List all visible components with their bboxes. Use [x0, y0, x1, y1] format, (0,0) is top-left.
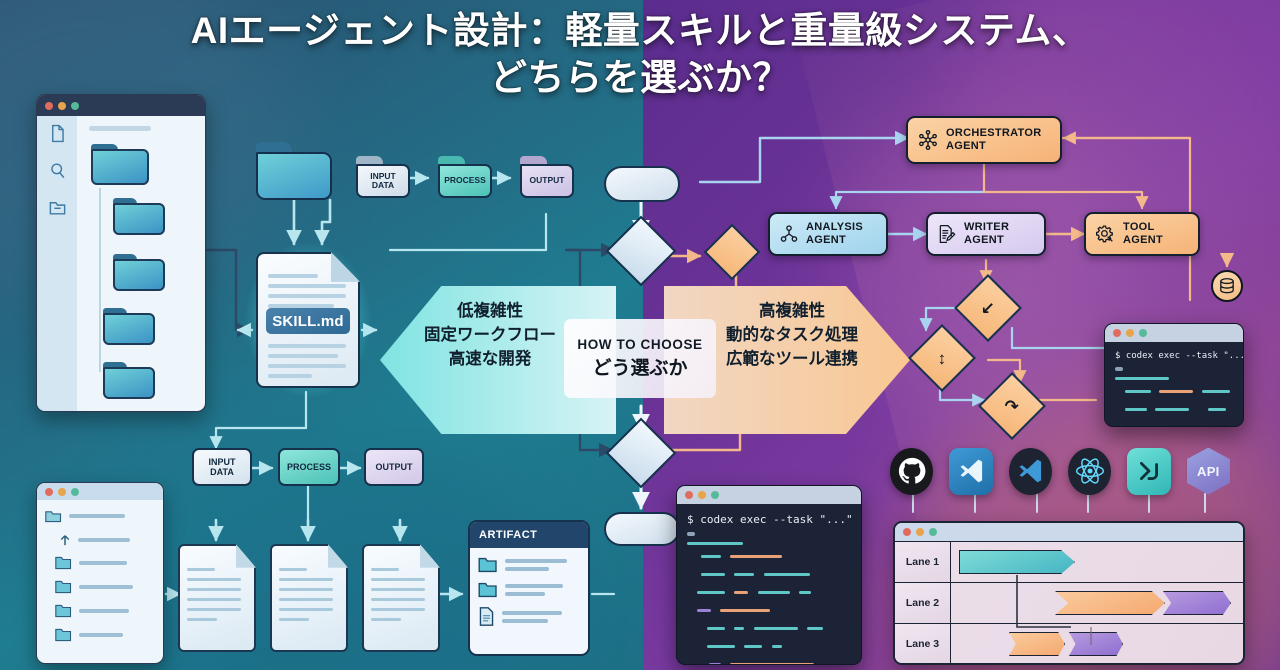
agent-label-line-2: AGENT	[964, 234, 1009, 247]
folder-icon	[55, 628, 72, 642]
list-item[interactable]	[45, 580, 155, 594]
close-icon[interactable]	[1113, 329, 1121, 337]
right-arrow-text: 高複雑性 動的なタスク処理 広範なツール連携	[692, 300, 892, 372]
artifact-title: ARTIFACT	[470, 522, 588, 548]
github-logo[interactable]	[890, 448, 933, 495]
left-arrow-line-3: 高速な開発	[390, 348, 590, 372]
tree-guide-line	[99, 188, 101, 372]
api-logo-label: API	[1197, 464, 1220, 479]
list-item[interactable]	[45, 628, 155, 642]
terminal-screen: $ codex exec --task "..."	[677, 504, 861, 665]
database-cylinder-icon	[1219, 278, 1235, 295]
flow-node-label: PROCESS	[444, 176, 486, 185]
swimlane-task-bar[interactable]	[1163, 591, 1231, 615]
folder-icon[interactable]	[48, 198, 67, 217]
agent-box-tool[interactable]: TOOL AGENT	[1084, 212, 1200, 256]
close-icon[interactable]	[685, 491, 693, 499]
document-icon[interactable]	[48, 124, 67, 143]
tree-folder-child[interactable]	[113, 198, 165, 235]
react-logo[interactable]	[1068, 448, 1111, 495]
swimlane-task-bar[interactable]	[1069, 632, 1123, 656]
output-document[interactable]	[178, 544, 256, 652]
swimlane-label: Lane 1	[895, 542, 951, 582]
text-line	[268, 354, 338, 358]
open-folder-icon	[45, 509, 62, 523]
flow-step-label: OUTPUT	[376, 462, 413, 472]
explorer-sidebar	[37, 116, 77, 411]
skill-md-filename: SKILL.md	[266, 308, 350, 334]
close-icon[interactable]	[45, 488, 53, 496]
node-tree-icon	[779, 224, 799, 244]
artifact-item[interactable]	[478, 557, 580, 573]
flow-step-label: INPUTDATA	[209, 457, 236, 477]
agent-box-analysis[interactable]: ANALYSIS AGENT	[768, 212, 888, 256]
terminal-screen: $ codex exec --task "..."	[1105, 342, 1243, 427]
swimlane-row: Lane 1	[895, 542, 1243, 583]
list-item[interactable]	[45, 533, 155, 546]
source-folder[interactable]	[256, 142, 332, 200]
file-explorer-window[interactable]	[36, 94, 206, 412]
text-line	[268, 274, 318, 278]
agent-label-line-1: ANALYSIS	[806, 221, 863, 234]
agent-label-line-2: AGENT	[806, 234, 863, 247]
terminal-large[interactable]: $ codex exec --task "..."	[676, 485, 862, 665]
swimlane-label: Lane 3	[895, 624, 951, 664]
text-line	[268, 294, 346, 298]
terminal-command: $ codex exec --task "..."	[687, 513, 851, 526]
artifact-item[interactable]	[478, 607, 580, 626]
maximize-icon[interactable]	[929, 528, 937, 536]
window-titlebar	[677, 486, 861, 504]
maximize-icon[interactable]	[71, 488, 79, 496]
minimize-icon[interactable]	[58, 488, 66, 496]
maximize-icon[interactable]	[1139, 329, 1147, 337]
text-line	[268, 304, 334, 308]
agent-label-line-2: AGENT	[1123, 234, 1163, 247]
diamond-glyph: ↕	[938, 350, 947, 367]
swimlane-chart-window[interactable]: Lane 1 Lane 2 Lane 3	[893, 521, 1245, 665]
left-arrow-line-2: 固定ワークフロー	[390, 324, 590, 348]
output-document[interactable]	[270, 544, 348, 652]
api-logo[interactable]: API	[1187, 448, 1230, 495]
agent-label-line-1: WRITER	[964, 221, 1009, 234]
minimize-icon[interactable]	[916, 528, 924, 536]
window-titlebar	[1105, 324, 1243, 342]
list-item[interactable]	[45, 604, 155, 618]
infographic-canvas: AIエージェント設計：軽量スキルと重量級システム、 どちらを選ぶか？	[0, 0, 1280, 670]
window-titlebar	[37, 483, 163, 500]
maximize-icon[interactable]	[71, 102, 79, 110]
right-arrow-line-2: 動的なタスク処理	[692, 324, 892, 348]
text-line	[268, 284, 346, 288]
tree-folder-root[interactable]	[91, 144, 149, 185]
page-title: AIエージェント設計：軽量スキルと重量級システム、 どちらを選ぶか？	[0, 8, 1280, 101]
minimize-icon[interactable]	[698, 491, 706, 499]
tech-logo-row: API	[890, 446, 1230, 496]
left-arrow-line-1: 低複雑性	[390, 300, 590, 324]
flow-node-process[interactable]: PROCESS	[438, 156, 492, 198]
vscode-logo-blue[interactable]	[949, 448, 992, 495]
diamond-glyph: ↷	[1005, 398, 1019, 415]
tree-folder-child[interactable]	[103, 362, 155, 399]
folder-icon	[55, 580, 72, 594]
agent-label-line-1: ORCHESTRATOR	[946, 127, 1041, 140]
network-graph-icon	[917, 129, 939, 151]
flow-node-label: OUTPUT	[530, 176, 565, 185]
flow-step-output[interactable]: OUTPUT	[364, 448, 424, 486]
flow-end-node[interactable]	[604, 512, 680, 546]
gear-magnifier-icon	[1095, 224, 1116, 245]
search-icon[interactable]	[48, 161, 67, 180]
swimlane-task-bar[interactable]	[1009, 632, 1065, 656]
how-to-choose-label-en: HOW TO CHOOSE	[577, 337, 702, 352]
terminal-prompt-logo[interactable]	[1127, 448, 1170, 495]
database-icon[interactable]	[1211, 270, 1243, 302]
right-arrow-line-3: 広範なツール連携	[692, 348, 892, 372]
title-line-1: AIエージェント設計：軽量スキルと重量級システム、	[0, 8, 1280, 55]
flow-step-process[interactable]: PROCESS	[278, 448, 340, 486]
document-icon	[478, 607, 495, 626]
file-list-window[interactable]	[36, 482, 164, 664]
maximize-icon[interactable]	[711, 491, 719, 499]
terminal-small[interactable]: $ codex exec --task "..."	[1104, 323, 1244, 427]
tree-folder-child[interactable]	[103, 308, 155, 345]
agent-box-writer[interactable]: WRITER AGENT	[926, 212, 1046, 256]
agent-label-line-2: AGENT	[946, 140, 1041, 153]
terminal-command: $ codex exec --task "..."	[1115, 351, 1233, 361]
tree-folder-child[interactable]	[113, 254, 165, 291]
swimlane-track[interactable]	[951, 583, 1243, 623]
flow-node-output[interactable]: OUTPUT	[520, 156, 574, 198]
text-line	[268, 364, 346, 368]
agent-label-line-1: TOOL	[1123, 221, 1163, 234]
up-level-icon	[59, 533, 71, 546]
flow-node-input-data[interactable]: INPUTDATA	[356, 156, 410, 198]
flow-step-label: PROCESS	[287, 462, 331, 472]
text-line	[268, 374, 312, 378]
how-to-choose-label-jp: どう選ぶか	[592, 353, 687, 380]
list-item[interactable]	[45, 556, 155, 570]
skill-md-document[interactable]: SKILL.md	[256, 252, 360, 388]
path-placeholder	[89, 126, 151, 131]
folder-icon	[55, 604, 72, 618]
title-line-2: どちらを選ぶか？	[0, 55, 1280, 102]
swimlane-label: Lane 2	[895, 583, 951, 623]
folder-icon	[478, 557, 498, 573]
how-to-choose-banner: HOW TO CHOOSE どう選ぶか	[564, 319, 716, 398]
folder-icon	[55, 556, 72, 570]
minimize-icon[interactable]	[1126, 329, 1134, 337]
right-arrow-line-1: 高複雑性	[692, 300, 892, 324]
diamond-glyph: ↙	[981, 300, 995, 317]
flow-start-node[interactable]	[604, 166, 680, 202]
artifact-item[interactable]	[478, 582, 580, 598]
flow-node-label: INPUTDATA	[370, 172, 396, 191]
left-arrow-text: 低複雑性 固定ワークフロー 高速な開発	[390, 300, 590, 372]
text-line	[268, 344, 346, 348]
close-icon[interactable]	[45, 102, 53, 110]
agent-box-orchestrator[interactable]: ORCHESTRATOR AGENT	[906, 116, 1062, 164]
artifact-card[interactable]: ARTIFACT	[468, 520, 590, 656]
output-document[interactable]	[362, 544, 440, 652]
swimlane-track[interactable]	[951, 624, 1243, 664]
swimlane-task-bar[interactable]	[1055, 591, 1165, 615]
window-titlebar	[895, 523, 1243, 542]
swimlane-row: Lane 3	[895, 624, 1243, 665]
swimlane-row: Lane 2	[895, 583, 1243, 624]
swimlane-task-bar[interactable]	[959, 550, 1075, 574]
explorer-tree[interactable]	[77, 116, 205, 411]
flow-step-input-data[interactable]: INPUTDATA	[192, 448, 252, 486]
swimlane-track[interactable]	[951, 542, 1243, 582]
document-pencil-icon	[937, 224, 957, 244]
close-icon[interactable]	[903, 528, 911, 536]
list-item[interactable]	[45, 509, 155, 523]
minimize-icon[interactable]	[58, 102, 66, 110]
folder-icon	[478, 582, 498, 598]
vscode-logo-dark[interactable]	[1009, 448, 1052, 495]
